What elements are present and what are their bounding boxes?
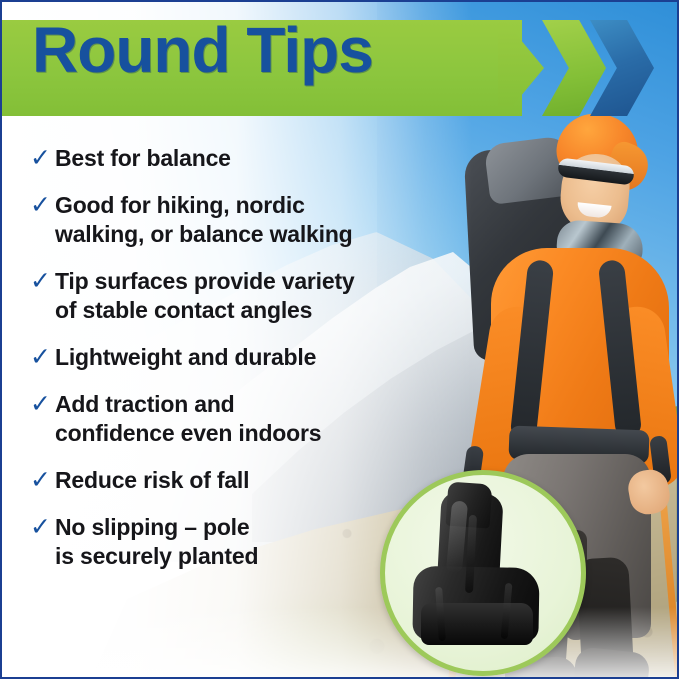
check-icon: ✓ [30, 191, 55, 220]
list-item: ✓ Reduce risk of fall [30, 466, 450, 495]
list-item: ✓ Lightweight and durable [30, 343, 450, 372]
feature-text: Best for balance [55, 144, 231, 173]
list-item: ✓ Tip surfaces provide variety of stable… [30, 267, 450, 325]
feature-text: Lightweight and durable [55, 343, 316, 372]
product-infographic: Round Tips ✓ Best for balance ✓ Good for… [0, 0, 679, 679]
feature-list: ✓ Best for balance ✓ Good for hiking, no… [30, 144, 450, 589]
feature-text: Add traction and confidence even indoors [55, 390, 321, 448]
check-icon: ✓ [30, 466, 55, 495]
feature-text: Reduce risk of fall [55, 466, 249, 495]
product-inset-circle [380, 470, 586, 676]
check-icon: ✓ [30, 144, 55, 173]
feature-text: No slipping – pole is securely planted [55, 513, 258, 571]
check-icon: ✓ [30, 343, 55, 372]
feature-text: Good for hiking, nordic walking, or bala… [55, 191, 353, 249]
page-title: Round Tips [32, 19, 373, 81]
list-item: ✓ Good for hiking, nordic walking, or ba… [30, 191, 450, 249]
feature-text: Tip surfaces provide variety of stable c… [55, 267, 355, 325]
check-icon: ✓ [30, 267, 55, 296]
list-item: ✓ Best for balance [30, 144, 450, 173]
check-icon: ✓ [30, 390, 55, 419]
list-item: ✓ Add traction and confidence even indoo… [30, 390, 450, 448]
check-icon: ✓ [30, 513, 55, 542]
